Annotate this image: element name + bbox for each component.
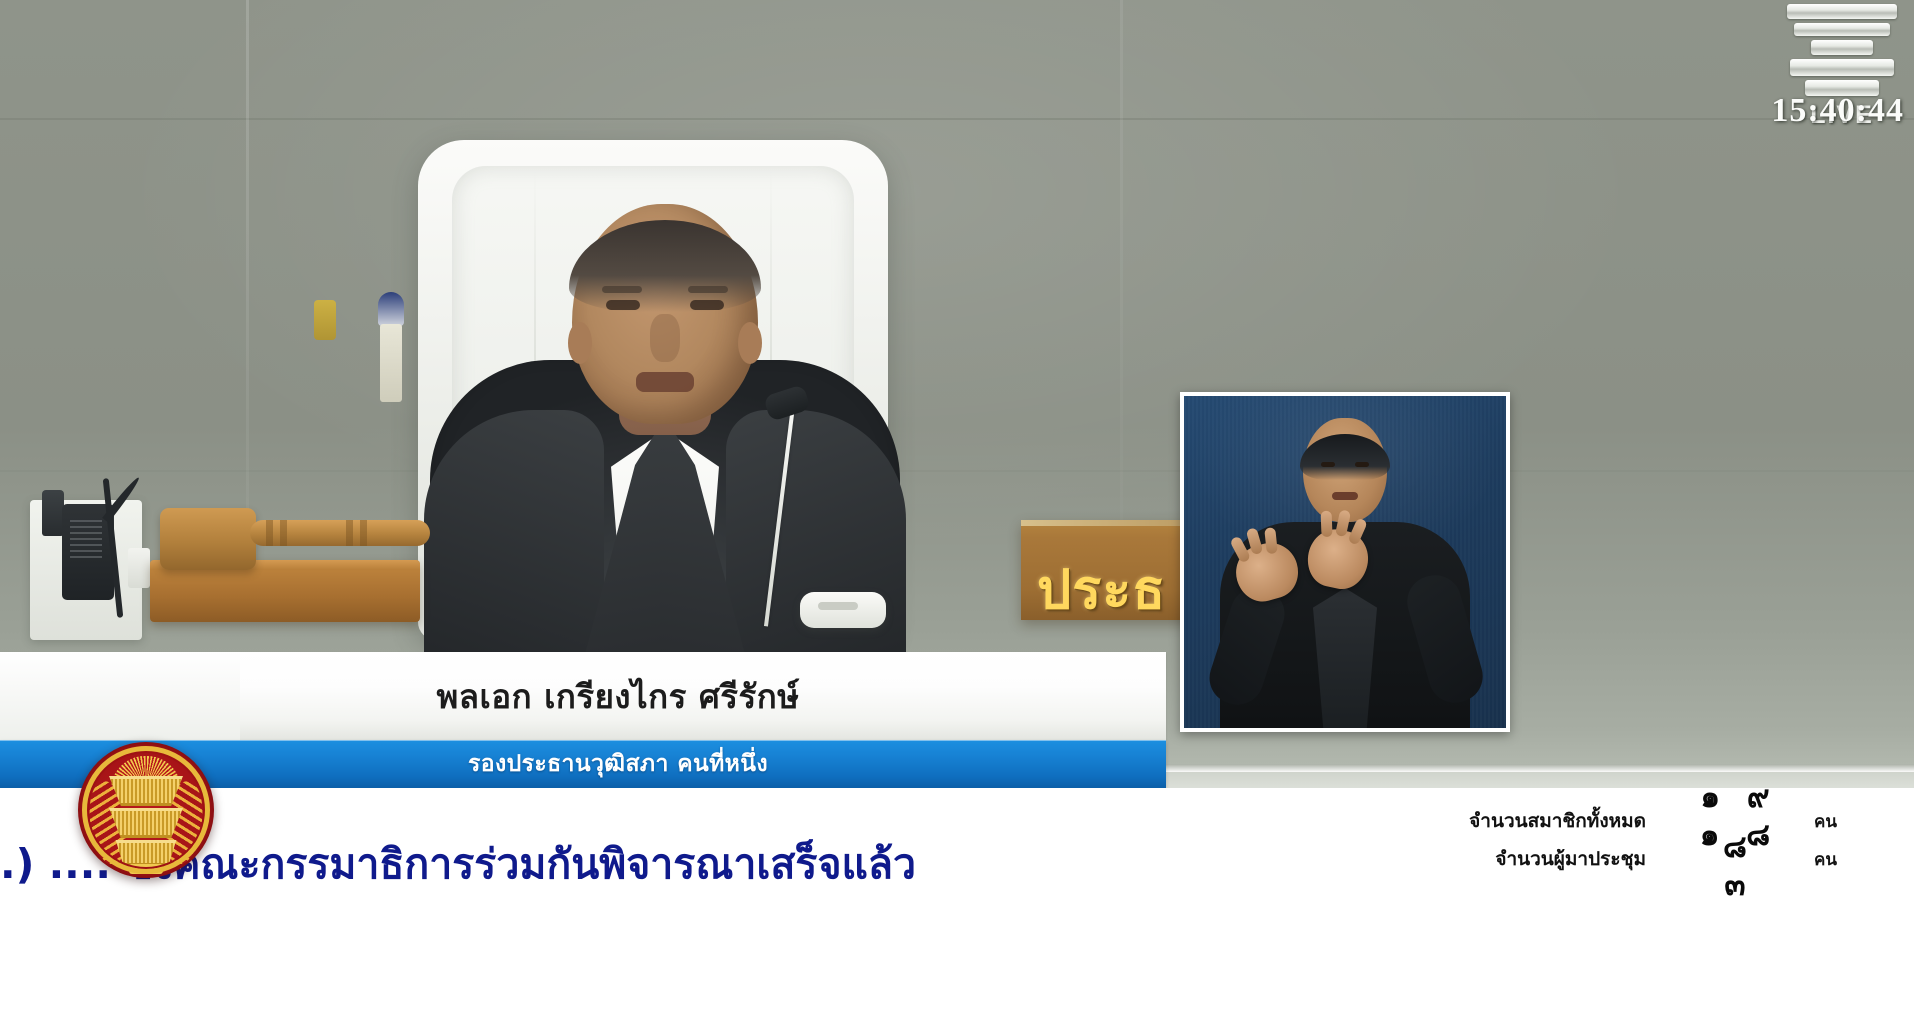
speaker-brow-right (688, 286, 728, 293)
gavel-handle (250, 520, 430, 546)
interpreter-hair (1300, 434, 1390, 480)
broadcast-clock: 15:40:44 (1771, 92, 1904, 130)
gavel-head (160, 508, 256, 570)
stat-row: จำนวนผู้มาประชุม ๑ ๘ ๓ คน (1228, 840, 1848, 878)
stat-label: จำนวนผู้มาประชุม (1495, 844, 1646, 874)
wall-seam (0, 118, 1914, 120)
speaker-eye-right (690, 300, 724, 310)
speaker-head (572, 204, 758, 424)
interpreter-mouth (1332, 492, 1358, 500)
stat-unit: คน (1814, 846, 1848, 873)
speaker-brow-left (602, 286, 642, 293)
thai-parliament-emblem-icon (78, 742, 214, 878)
stat-unit: คน (1814, 808, 1848, 835)
power-plug (128, 548, 150, 588)
interpreter-head (1303, 418, 1387, 522)
logo-bar (1794, 23, 1890, 36)
adapter-label (70, 520, 102, 560)
interpreter-eye-left (1321, 462, 1335, 467)
gavel-ring (266, 520, 273, 546)
stat-label: จำนวนสมาชิกทั้งหมด (1469, 806, 1646, 836)
broadcast-screenshot: ประธ LIVE 15:40:44 (0, 0, 1914, 1014)
badge-card (380, 324, 402, 402)
microphone-button (818, 602, 858, 610)
suit-lapel-pin (314, 300, 336, 340)
logo-bar (1787, 4, 1897, 19)
emblem-gold-ring (82, 746, 210, 874)
gavel-ring (280, 520, 287, 546)
speaker-mouth (636, 372, 694, 392)
interpreter-eye-right (1355, 462, 1369, 467)
speaker-hair (569, 220, 761, 312)
gavel-ring (360, 520, 367, 546)
attendance-stats: จำนวนสมาชิกทั้งหมด ๑ ๙ ๘ คน จำนวนผู้มาปร… (1228, 802, 1848, 878)
lower-third-name-bar: พลเอก เกรียงไกร ศรีรักษ์ (0, 652, 1166, 740)
gavel-ring (346, 520, 353, 546)
interpreter-finger (1321, 511, 1333, 537)
bottom-information-bar: .) .... ซึ่งคณะกรรมาธิการร่วมกันพิจารณาเ… (0, 788, 1914, 1014)
nameplate-text: ประธ (1037, 546, 1166, 632)
speaker-shoulder-left (424, 410, 604, 660)
stat-value: ๑ ๘ ๓ (1680, 809, 1798, 909)
speaker-eye-left (606, 300, 640, 310)
id-badge-lanyard (372, 292, 408, 412)
microphone-base (800, 592, 886, 628)
sign-language-interpreter-panel (1180, 392, 1510, 732)
logo-bar (1790, 59, 1894, 76)
speaker-nose (650, 314, 680, 362)
live-logo-bars-icon (1787, 4, 1897, 100)
speaker-ear-right (738, 322, 762, 364)
badge-clip (378, 292, 404, 326)
speaker-ear-left (568, 322, 592, 364)
speaker-person (430, 180, 900, 660)
small-bottle (42, 490, 64, 536)
interpreter-shirt (1313, 588, 1377, 728)
logo-bar (1811, 40, 1873, 55)
wall-seam (0, 470, 1914, 472)
speaker-name: พลเอก เกรียงไกร ศรีรักษ์ (0, 652, 1166, 740)
